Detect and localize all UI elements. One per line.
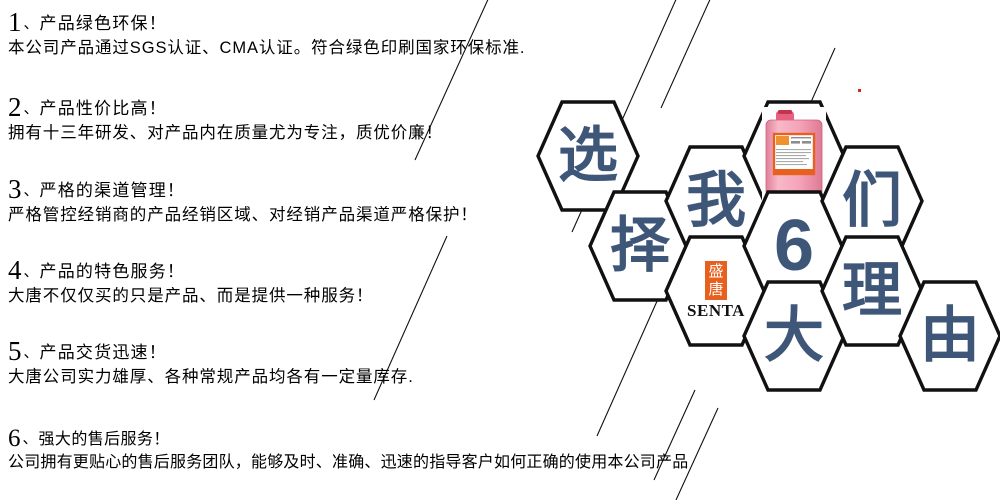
honeycomb-graphic: 选 择 我 盛 唐 SENTA [0, 0, 1000, 500]
hex-cell-you: 由 [898, 280, 1000, 392]
hex-label-you: 由 [898, 280, 1000, 392]
promo-banner: 1 、 产品绿色环保！ 本公司产品通过SGS认证、CMA认证。符合绿色印刷国家环… [0, 0, 1000, 500]
brand-mark-icon: 盛 唐 [705, 261, 727, 300]
product-drum-image [760, 106, 828, 202]
brand-mark-char-top: 盛 [708, 263, 723, 281]
brand-wordmark: SENTA [687, 301, 745, 321]
brand-mark-char-bottom: 唐 [708, 281, 723, 299]
